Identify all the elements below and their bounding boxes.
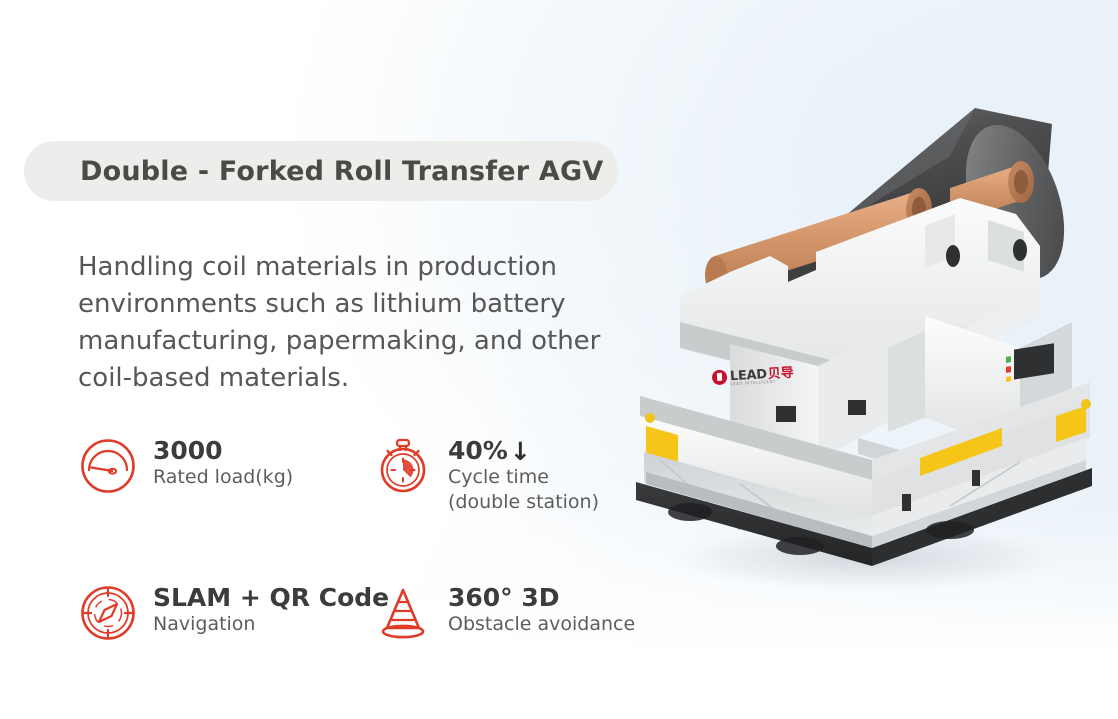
spec-label: Cycle time (double station) xyxy=(448,465,599,515)
spec-grid: 3000 Rated load(kg) xyxy=(78,434,678,643)
indicator-yellow xyxy=(1006,376,1011,382)
gauge-icon xyxy=(78,436,138,496)
spec-row-2: SLAM + QR Code Navigation 360° 3D Obstac… xyxy=(78,581,678,643)
corner-lamp-left xyxy=(645,413,655,423)
description-line-2: environments such as lithium battery xyxy=(78,286,638,323)
spec-item-rated-load: 3000 Rated load(kg) xyxy=(78,434,373,496)
spec-label: Obstacle avoidance xyxy=(448,613,635,635)
spec-value: SLAM + QR Code xyxy=(153,584,389,612)
decrease-arrow-icon: ↓ xyxy=(510,439,531,464)
title-pill: Double - Forked Roll Transfer AGV xyxy=(24,141,618,201)
skirt-sensor-left xyxy=(902,494,911,511)
traffic-cone-icon xyxy=(373,583,433,643)
fork-sensor-left xyxy=(946,245,960,267)
spec-item-navigation: SLAM + QR Code Navigation xyxy=(78,581,373,643)
spec-text: 3000 Rated load(kg) xyxy=(153,434,293,490)
product-showcase-slide: LEAD 贝导 LEAD INTELLIGENT Double - Forked… xyxy=(0,0,1118,719)
spec-label-line-2: (double station) xyxy=(448,490,599,515)
spec-row-1: 3000 Rated load(kg) xyxy=(78,434,678,515)
indicator-red xyxy=(1006,366,1011,373)
spec-value: 3000 xyxy=(153,437,293,465)
spec-value: 40% ↓ xyxy=(448,437,599,465)
skirt-sensor-right xyxy=(972,470,980,486)
control-panel xyxy=(1014,343,1054,379)
spec-label-line-1: Cycle time xyxy=(448,465,599,490)
fork-sensor-right xyxy=(1013,239,1027,261)
spec-label: Rated load(kg) xyxy=(153,466,293,488)
spec-text: SLAM + QR Code Navigation xyxy=(153,581,389,637)
description-line-1: Handling coil materials in production xyxy=(78,249,638,286)
spec-text: 40% ↓ Cycle time (double station) xyxy=(448,434,599,515)
description-line-4: coil-based materials. xyxy=(78,360,638,397)
page-title: Double - Forked Roll Transfer AGV xyxy=(80,156,603,187)
spec-item-cycle-time: 40% ↓ Cycle time (double station) xyxy=(373,434,673,515)
corner-lamp-right xyxy=(1081,399,1091,409)
product-image xyxy=(620,60,1118,620)
brand-mark-icon xyxy=(712,369,728,385)
indicator-green xyxy=(1006,356,1011,363)
spec-item-obstacle-avoidance: 360° 3D Obstacle avoidance xyxy=(373,581,673,643)
spec-value-number: 40% xyxy=(448,437,508,465)
spec-value: 360° 3D xyxy=(448,584,635,612)
compass-icon xyxy=(78,583,138,643)
description-line-3: manufacturing, papermaking, and other xyxy=(78,323,638,360)
stopwatch-icon xyxy=(373,436,433,496)
spec-text: 360° 3D Obstacle avoidance xyxy=(448,581,635,637)
description-text: Handling coil materials in production en… xyxy=(78,249,638,397)
spec-label: Navigation xyxy=(153,613,255,635)
